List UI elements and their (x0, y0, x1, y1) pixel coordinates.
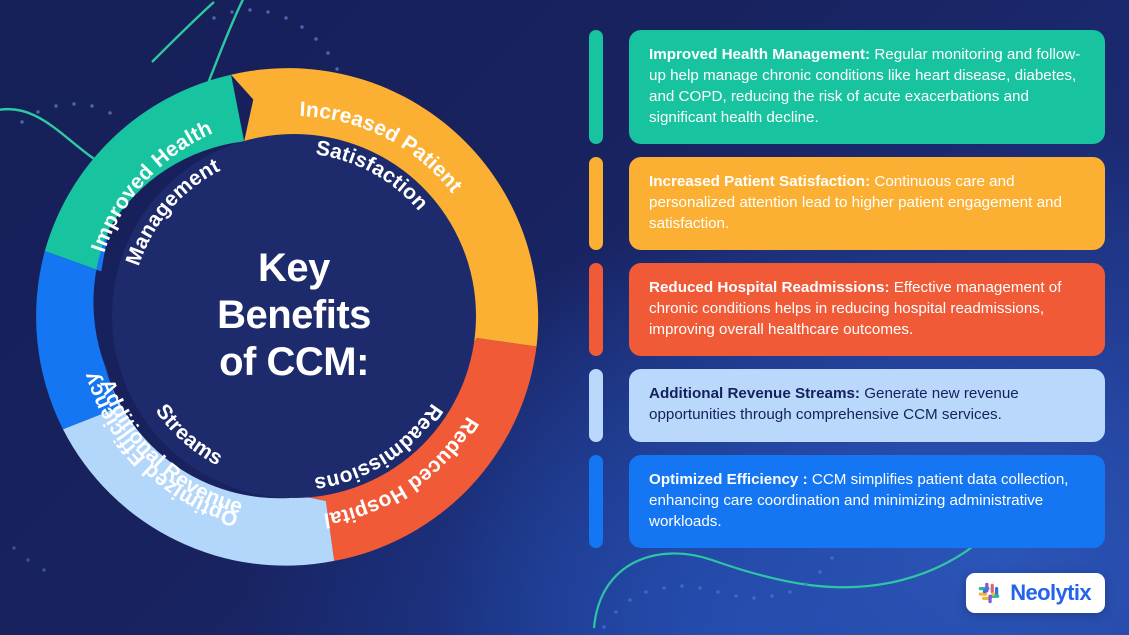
benefit-title-increased-patient-satisfaction: Increased Patient Satisfaction: (649, 173, 870, 190)
accent-bar-improved-health-management (589, 30, 603, 144)
benefit-card-reduced-hospital-readmissions[interactable]: Reduced Hospital Readmissions: Effective… (629, 263, 1105, 356)
benefit-title-optimized-efficiency: Optimized Efficiency : (649, 471, 808, 488)
center-title-line-3: of CCM: (164, 340, 424, 387)
benefit-title-reduced-hospital-readmissions: Reduced Hospital Readmissions: (649, 279, 890, 296)
infographic-canvas: Improved Health Management Increased Pat… (0, 0, 1129, 635)
benefit-row-increased-patient-satisfaction: Increased Patient Satisfaction: Continuo… (589, 157, 1105, 250)
accent-bar-increased-patient-satisfaction (589, 157, 603, 250)
benefit-row-reduced-hospital-readmissions: Reduced Hospital Readmissions: Effective… (589, 263, 1105, 356)
benefit-row-improved-health-management: Improved Health Management: Regular moni… (589, 30, 1105, 144)
pinwheel-icon (976, 580, 1002, 606)
key-benefits-donut: Improved Health Management Increased Pat… (14, 56, 574, 576)
benefit-title-additional-revenue-streams: Additional Revenue Streams: (649, 385, 860, 402)
benefit-card-additional-revenue-streams[interactable]: Additional Revenue Streams: Generate new… (629, 369, 1105, 442)
accent-bar-optimized-efficiency (589, 455, 603, 548)
benefit-card-increased-patient-satisfaction[interactable]: Increased Patient Satisfaction: Continuo… (629, 157, 1105, 250)
center-title-line-1: Key (164, 245, 424, 292)
benefit-row-additional-revenue-streams: Additional Revenue Streams: Generate new… (589, 369, 1105, 442)
accent-bar-additional-revenue-streams (589, 369, 603, 442)
logo-wordmark: Neolytix (1010, 582, 1091, 604)
benefit-title-improved-health-management: Improved Health Management: (649, 46, 870, 63)
center-title-line-2: Benefits (164, 292, 424, 339)
accent-bar-reduced-hospital-readmissions (589, 263, 603, 356)
benefit-row-optimized-efficiency: Optimized Efficiency : CCM simplifies pa… (589, 455, 1105, 548)
benefit-card-improved-health-management[interactable]: Improved Health Management: Regular moni… (629, 30, 1105, 144)
benefit-card-optimized-efficiency[interactable]: Optimized Efficiency : CCM simplifies pa… (629, 455, 1105, 548)
benefit-card-list: Improved Health Management: Regular moni… (589, 30, 1105, 561)
donut-center-title: Key Benefits of CCM: (164, 245, 424, 387)
neolytix-logo[interactable]: Neolytix (966, 573, 1105, 613)
